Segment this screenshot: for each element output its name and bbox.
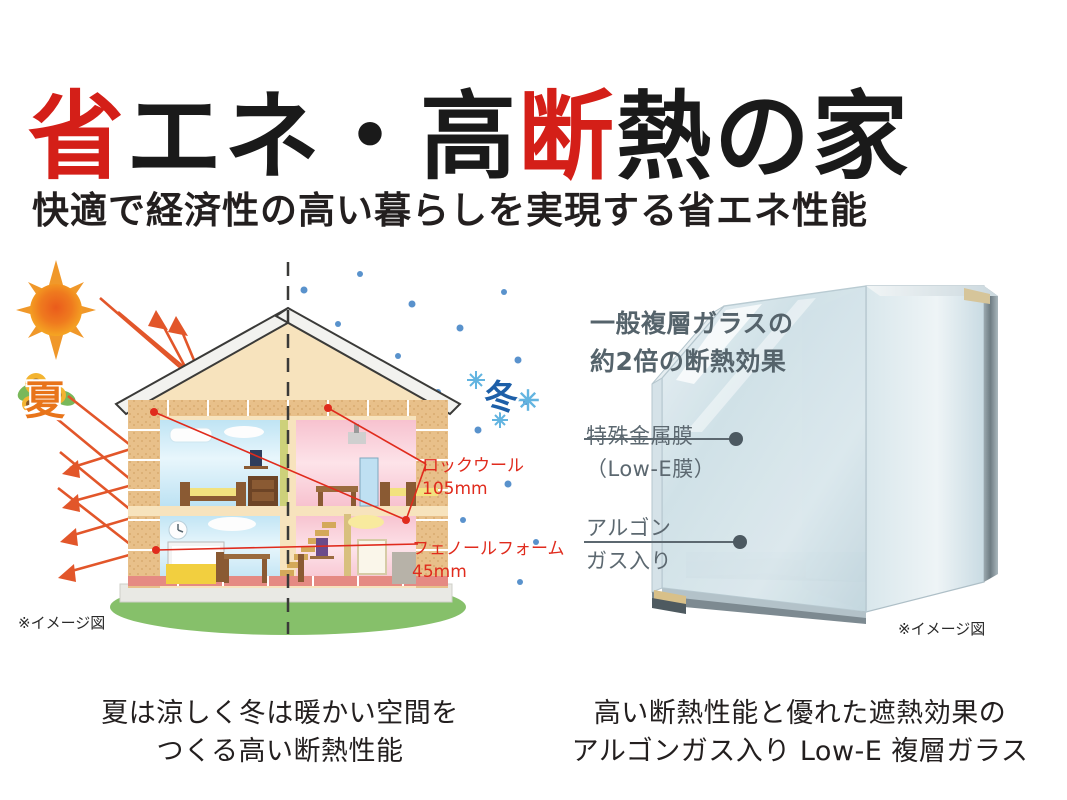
page-subtitle: 快適で経済性の高い暮らしを実現する省エネ性能 [32,180,868,234]
season-label-summer: 夏 [25,368,65,426]
glass-label-low-e: 特殊金属膜 （Low-E膜） [586,420,715,485]
glass-label-low-e-line1: 特殊金属膜 [586,420,715,453]
title-segment-2: エネ・高 [126,84,518,191]
house-caption: 夏は涼しく冬は暖かい空間を つくる高い断熱性能 [20,695,540,772]
glass-label-argon-line1: アルゴン [586,512,672,545]
glass-back-edge [984,286,998,582]
glass-caption: 高い断熱性能と優れた遮熱効果の アルゴンガス入り Low-E 複層ガラス [545,695,1055,772]
house-caption-line2: つくる高い断熱性能 [20,733,540,771]
glass-image-note: ※イメージ図 [898,618,985,639]
glass-caption-line1: 高い断熱性能と優れた遮熱効果の [545,695,1055,733]
season-label-winter: 冬 [484,370,518,419]
sun-icon [16,260,96,360]
glass-headline-line1: 一般複層ガラスの [590,305,794,343]
page-title: 省エネ・高断熱の家 [28,86,910,190]
house-image-note: ※イメージ図 [18,612,105,633]
title-segment-3: 断 [518,84,616,191]
glass-headline: 一般複層ガラスの 約2倍の断熱効果 [590,305,794,380]
callout-rockwool-line2: 105mm [422,478,524,501]
callout-phenolic-line2: 45mm [412,561,565,584]
callout-rockwool: ロックウール 105mm [422,455,524,501]
house-caption-line1: 夏は涼しく冬は暖かい空間を [20,695,540,733]
title-segment-4: 熱の家 [616,84,910,191]
infographic-page: 省エネ・高断熱の家 快適で経済性の高い暮らしを実現する省エネ性能 [0,0,1067,800]
house-illustration-panel [8,252,556,644]
house-cross-section-diagram [8,252,556,644]
glass-label-argon: アルゴン ガス入り [586,512,672,577]
glass-headline-line2: 約2倍の断熱効果 [590,343,794,381]
glass-caption-line2: アルゴンガス入り Low-E 複層ガラス [545,733,1055,771]
title-segment-1: 省 [28,84,126,191]
callout-phenolic-line1: フェノールフォーム [412,538,565,561]
callout-rockwool-line1: ロックウール [422,455,524,478]
glass-back-pane [866,286,984,612]
glass-label-argon-line2: ガス入り [586,545,672,578]
glass-label-low-e-line2: （Low-E膜） [586,453,715,486]
callout-phenolic-foam: フェノールフォーム 45mm [412,538,565,584]
